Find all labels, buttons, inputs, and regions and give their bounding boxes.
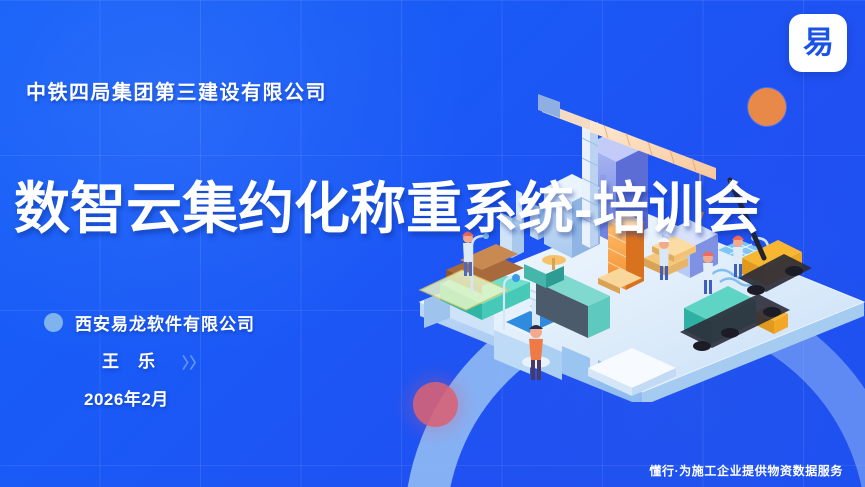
marked-zone	[420, 270, 508, 310]
decorative-orange-circle	[748, 88, 786, 126]
warehouse-roof	[440, 244, 544, 320]
street-lamp	[472, 233, 768, 330]
presenter-company-row: 西安易龙软件有限公司	[44, 310, 255, 335]
platform-base	[420, 212, 864, 402]
decorative-pink-circle	[413, 382, 458, 427]
decorative-ring-arc-secondary	[404, 278, 865, 487]
logo-glyph: 易	[803, 28, 833, 59]
weigh-plate	[498, 307, 562, 337]
wave-decor	[712, 270, 756, 286]
presenter-name: 王 乐	[102, 347, 255, 372]
forklift	[608, 319, 648, 339]
presenter-company: 西安易龙软件有限公司	[75, 310, 255, 335]
concrete-slab	[588, 348, 676, 396]
brand-logo[interactable]: 易	[789, 14, 847, 72]
solar-panel	[718, 240, 784, 274]
truck	[680, 286, 790, 351]
bullet-dot-icon	[44, 313, 63, 332]
presentation-slide: 易 中铁四局集团第三建设有限公司 数智云集约化称重系统-培训会 西安易龙软件有限…	[0, 0, 865, 487]
decorative-ring-arc	[404, 278, 865, 487]
lumber-stack	[598, 236, 696, 294]
presenter-date: 2026年2月	[84, 385, 255, 410]
workers	[462, 232, 744, 381]
billboard-screen	[522, 255, 610, 368]
weighbridge-slabs	[424, 290, 638, 402]
page-title: 数智云集约化称重系统-培训会	[14, 180, 761, 239]
company-name: 中铁四局集团第三建设有限公司	[26, 76, 327, 105]
footer-tagline: 懂行·为施工企业提供物资数据服务	[649, 462, 843, 479]
presenter-block: 西安易龙软件有限公司 王 乐 2026年2月	[44, 310, 255, 410]
